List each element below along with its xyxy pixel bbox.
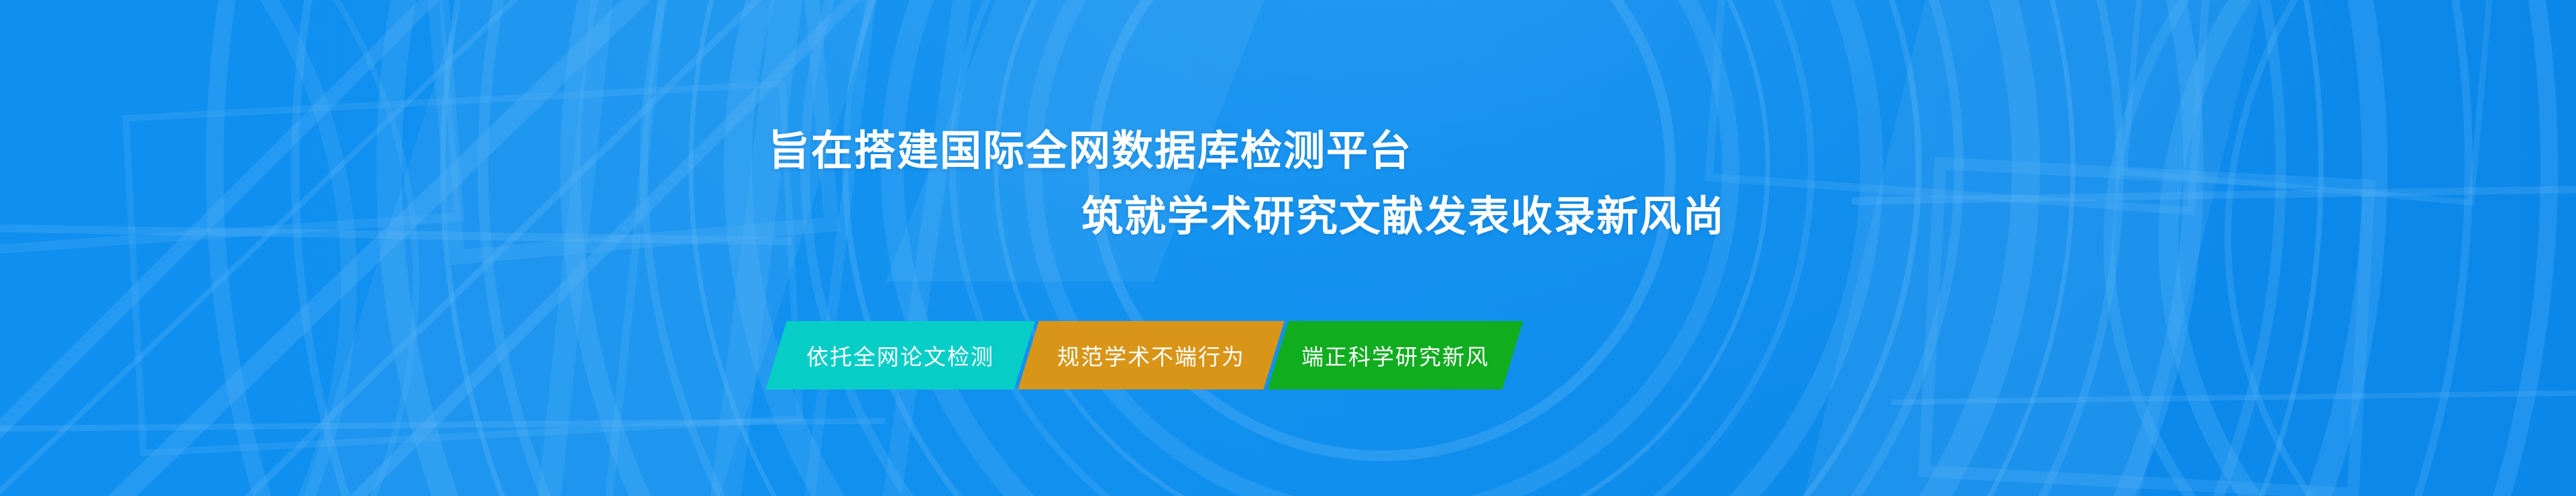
badge-label: 依托全网论文检测 bbox=[806, 339, 994, 371]
feature-badge-strip: 依托全网论文检测 规范学术不端行为 端正科学研究新风 bbox=[776, 321, 1513, 389]
badge-label: 规范学术不端行为 bbox=[1057, 339, 1245, 371]
badge-gui-fan-xue-shu[interactable]: 规范学术不端行为 bbox=[1018, 321, 1284, 389]
promo-banner: 旨在搭建国际全网数据库检测平台 筑就学术研究文献发表收录新风尚 依托全网论文检测… bbox=[0, 0, 2576, 496]
badge-duan-zheng-ke-xue[interactable]: 端正科学研究新风 bbox=[1267, 321, 1523, 389]
badge-label: 端正科学研究新风 bbox=[1301, 339, 1489, 371]
background-artwork bbox=[0, 0, 2576, 496]
badge-quan-wang-lun-wen[interactable]: 依托全网论文检测 bbox=[765, 321, 1034, 389]
